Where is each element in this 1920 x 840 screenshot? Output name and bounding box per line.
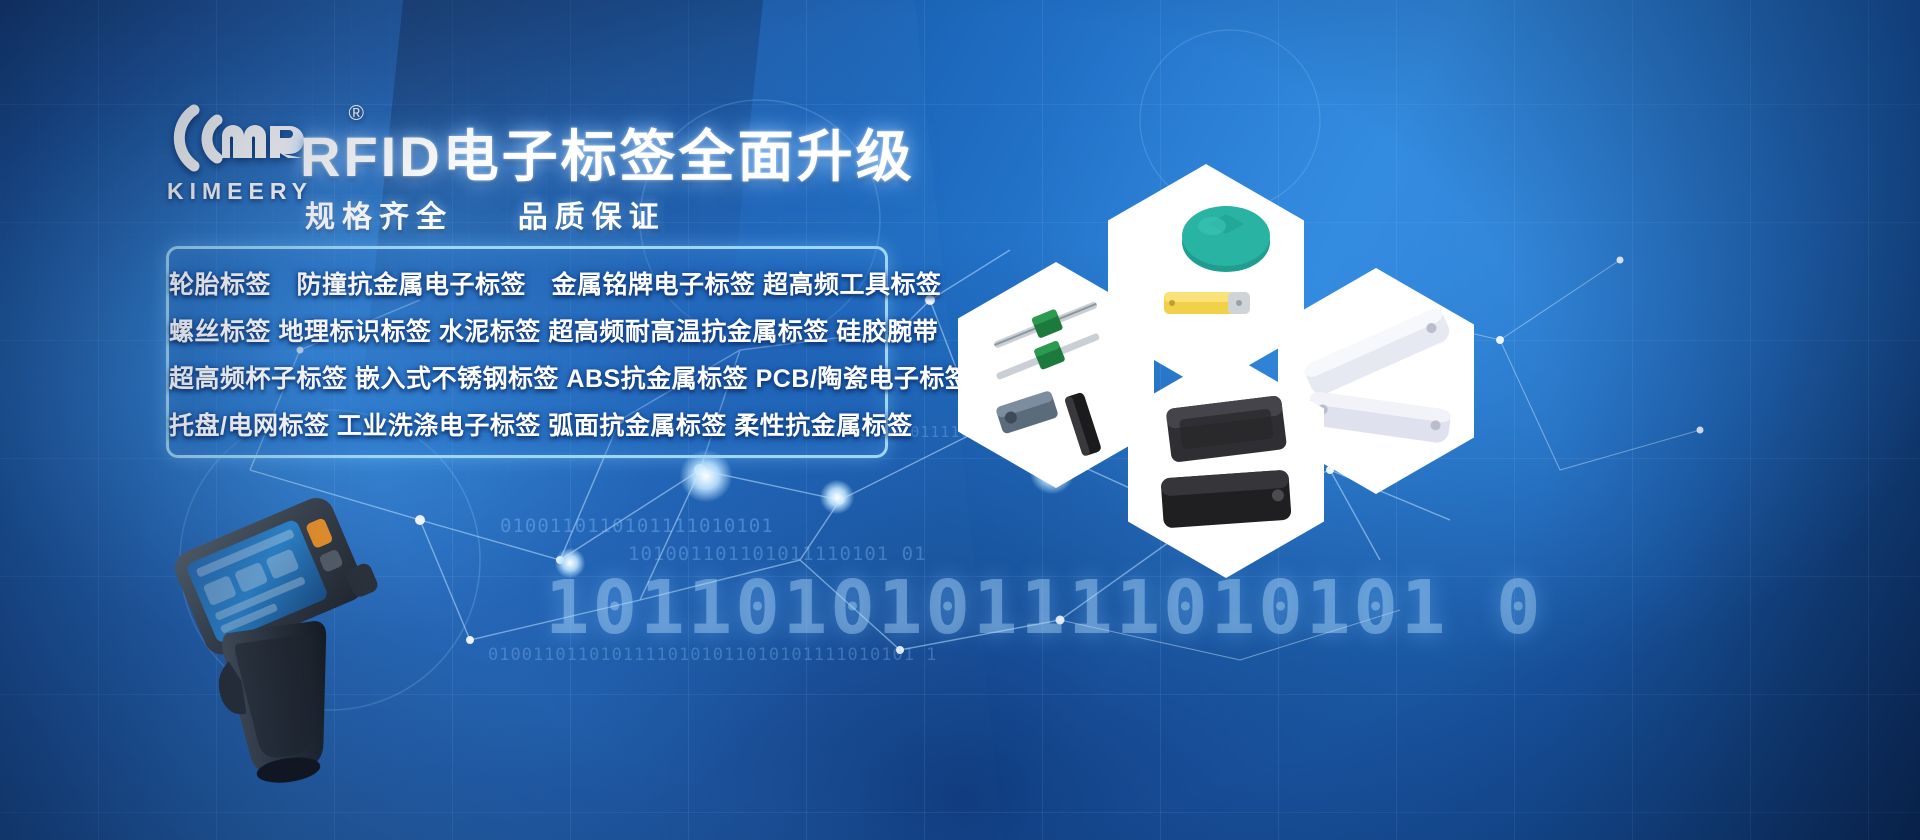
glow-node bbox=[820, 480, 854, 514]
binary-text: 0100110110101111010101 bbox=[500, 515, 774, 537]
subtitle-right: 品质保证 bbox=[518, 201, 666, 234]
handheld-rfid-reader bbox=[150, 480, 400, 810]
tag-list-row: 螺丝标签 地理标识标签 水泥标签 超高频耐高温抗金属标签 硅胶腕带 bbox=[169, 309, 885, 356]
glow-node bbox=[555, 548, 585, 578]
subtitle-left: 规格齐全 bbox=[305, 201, 453, 234]
binary-text: 101001101101011110101 01 bbox=[628, 543, 927, 565]
tag-list-row: 超高频杯子标签 嵌入式不锈钢标签 ABS抗金属标签 PCB/陶瓷电子标签 bbox=[169, 356, 885, 403]
binary-text: 01001101101011110101011010101111010101 1 bbox=[488, 645, 937, 665]
subtitle: 规格齐全 品质保证 bbox=[305, 192, 666, 236]
tag-list-row: 轮胎标签 防撞抗金属电子标签 金属铭牌电子标签 超高频工具标签 bbox=[169, 262, 885, 309]
page-title: RFID电子标签全面升级 bbox=[300, 112, 915, 193]
binary-text-large: 1011010101111010101 0 bbox=[545, 565, 1544, 651]
product-tag-list: 轮胎标签 防撞抗金属电子标签 金属铭牌电子标签 超高频工具标签 螺丝标签 地理标… bbox=[166, 246, 888, 458]
kimeery-wave-logo-icon bbox=[160, 100, 320, 172]
tag-list-row: 托盘/电网标签 工业洗涤电子标签 弧面抗金属标签 柔性抗金属标签 bbox=[169, 403, 885, 450]
rfid-promo-banner: 0100110110101111010101 10100110110101111… bbox=[0, 0, 1920, 840]
